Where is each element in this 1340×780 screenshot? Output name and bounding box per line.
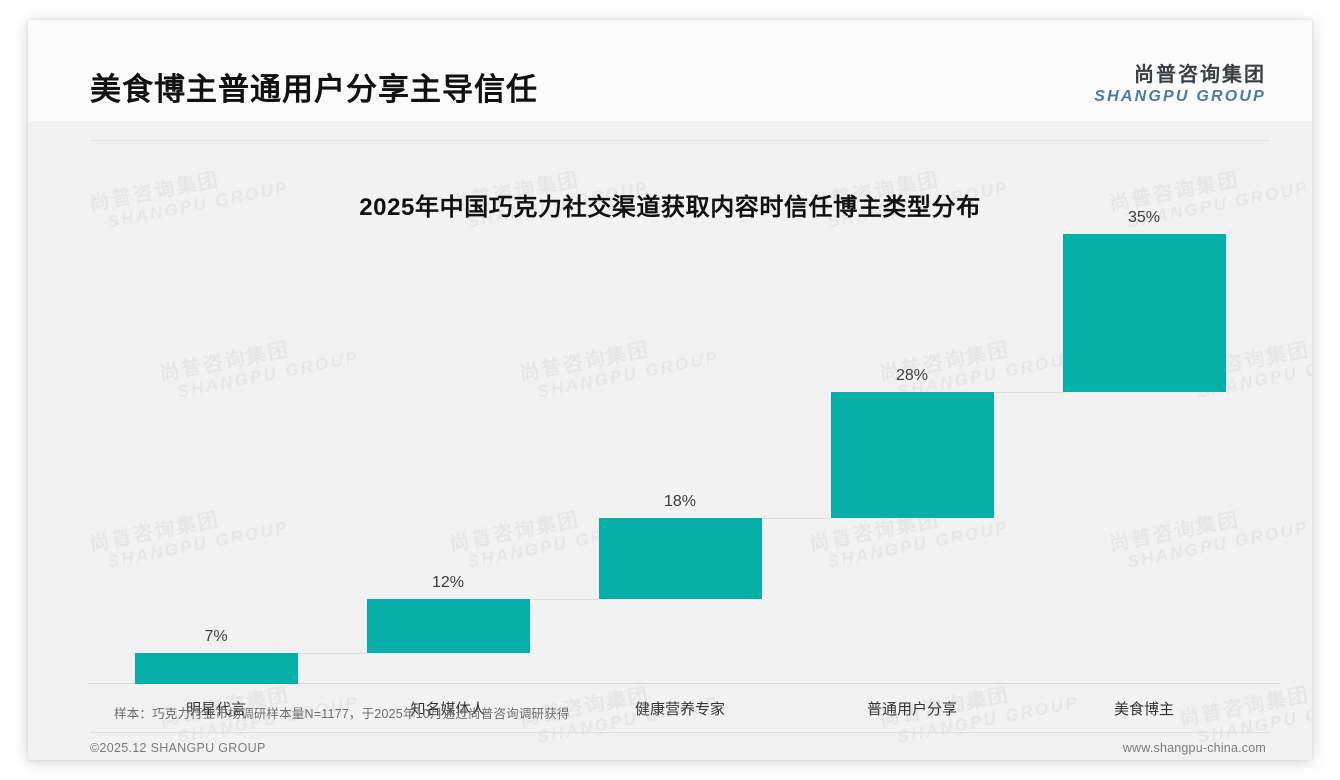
waterfall-connector xyxy=(994,392,1063,393)
page-title: 美食博主普通用户分享主导信任 xyxy=(90,64,538,109)
chart-bar[interactable] xyxy=(1063,234,1226,392)
source-footnote: 样本：巧克力行业市场调研样本量N=1177，于2025年10月通过尚普咨询调研获… xyxy=(114,703,570,722)
chart-bar[interactable] xyxy=(367,599,530,653)
slide-footer: ©2025.12 SHANGPU GROUP www.shangpu-china… xyxy=(28,733,1312,760)
waterfall-connector xyxy=(530,599,599,600)
category-label: 健康营养专家 xyxy=(564,698,796,719)
chart-bar[interactable] xyxy=(599,518,762,599)
category-label: 普通用户分享 xyxy=(796,698,1028,719)
category-label: 美食博主 xyxy=(1028,698,1260,719)
slide-canvas: 尚普咨询集团SHANGPU GROUP尚普咨询集团SHANGPU GROUP尚普… xyxy=(28,20,1312,760)
chart-bar[interactable] xyxy=(135,653,298,685)
brand-name-cn: 尚普咨询集团 xyxy=(1094,64,1266,87)
bar-value-label: 18% xyxy=(630,493,730,511)
slide-header: 美食博主普通用户分享主导信任 尚普咨询集团 SHANGPU GROUP xyxy=(28,20,1312,121)
waterfall-connector xyxy=(762,518,831,519)
brand-logo: 尚普咨询集团 SHANGPU GROUP xyxy=(1094,64,1266,106)
header-divider xyxy=(90,140,1270,141)
brand-name-en: SHANGPU GROUP xyxy=(1094,87,1266,106)
website-link[interactable]: www.shangpu-china.com xyxy=(1123,741,1266,755)
chart-container: 2025年中国巧克力社交渠道获取内容时信任博主类型分布 7%12%18%28%3… xyxy=(28,141,1312,686)
bar-value-label: 7% xyxy=(166,628,266,646)
waterfall-connector xyxy=(298,653,367,654)
bar-value-label: 12% xyxy=(398,574,498,592)
copyright-text: ©2025.12 SHANGPU GROUP xyxy=(90,741,266,755)
chart-plot-area: 7%12%18%28%35% xyxy=(60,234,1280,684)
chart-bar[interactable] xyxy=(831,392,994,518)
bar-value-label: 35% xyxy=(1094,209,1194,227)
bar-value-label: 28% xyxy=(862,367,962,385)
